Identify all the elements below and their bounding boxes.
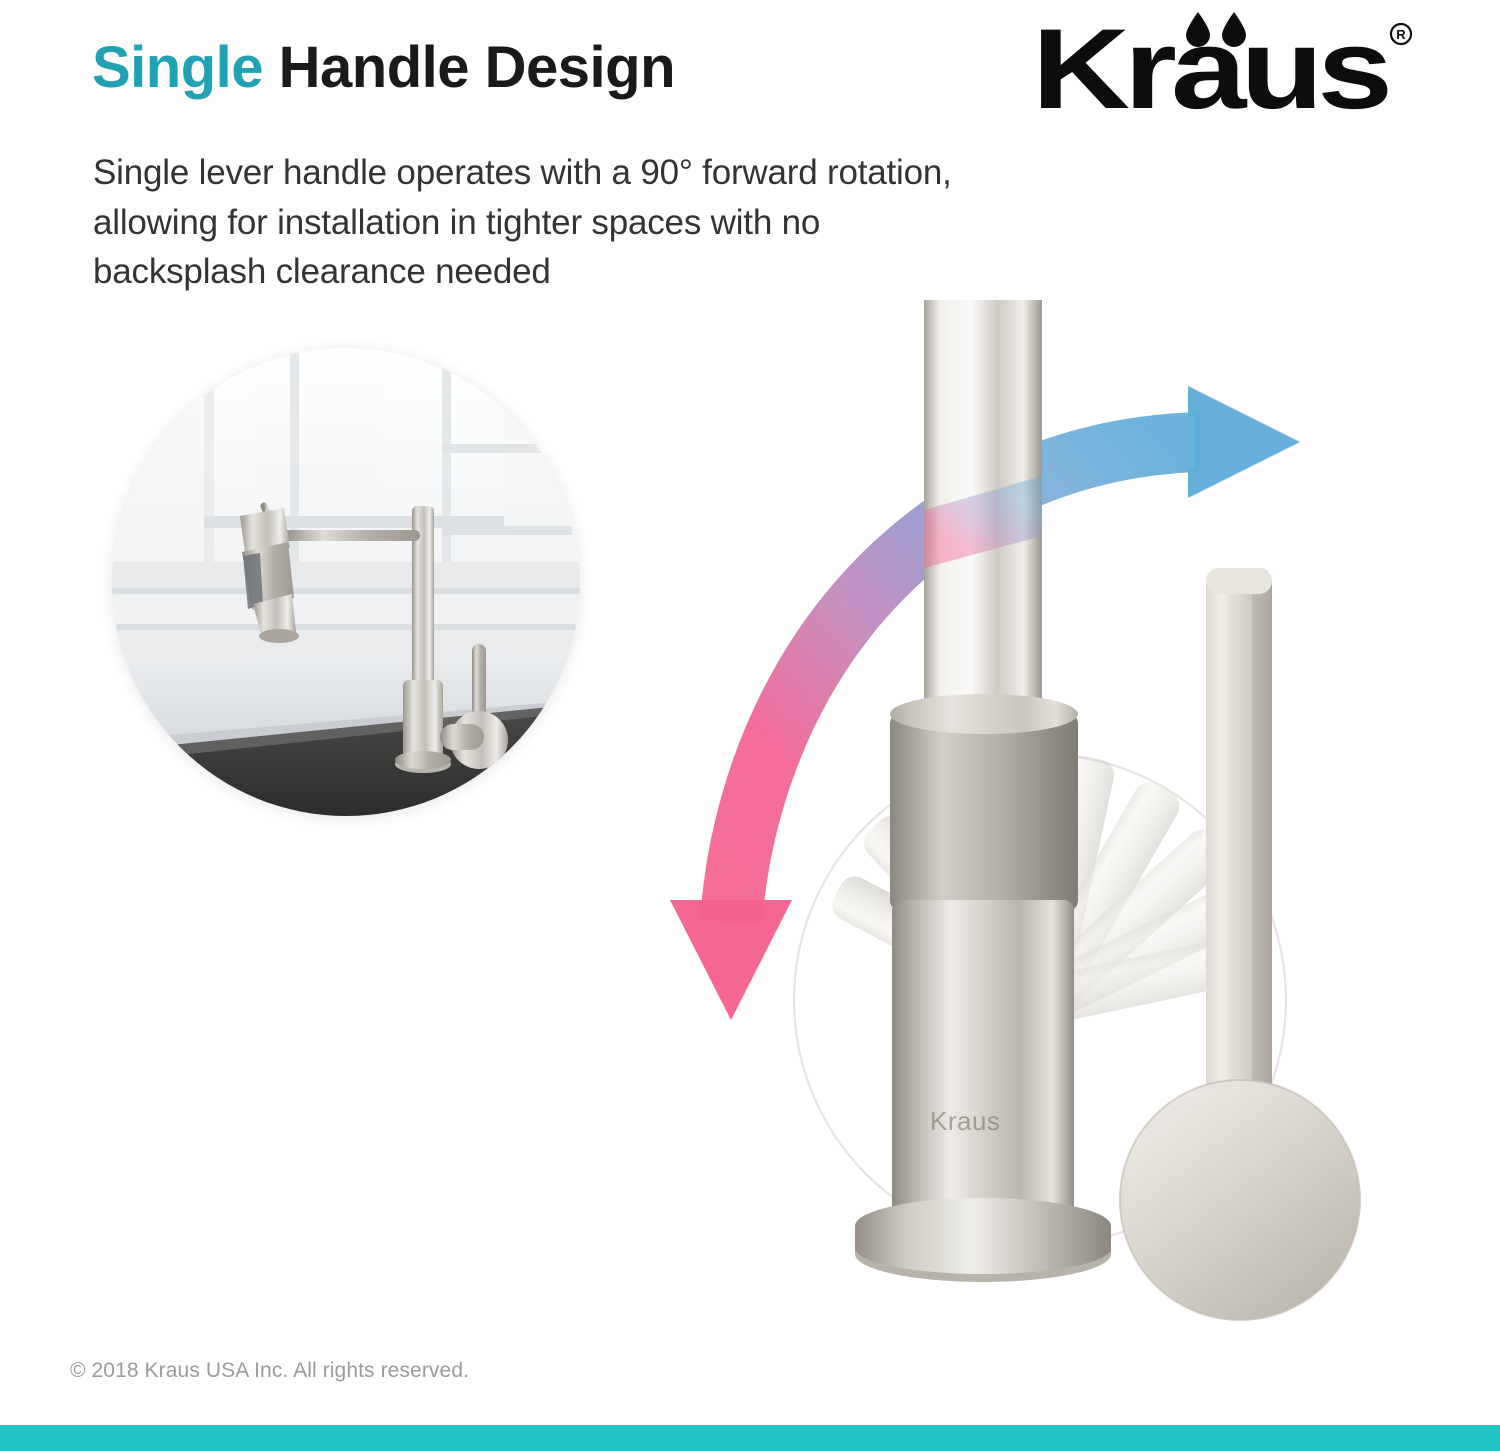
page-description: Single lever handle operates with a 90° …	[93, 148, 973, 297]
forward-rotation-arrow	[1188, 386, 1300, 498]
product-feature-slide: Single Handle Design Single lever handle…	[0, 0, 1500, 1451]
registered-trademark-icon: R	[1391, 24, 1411, 44]
page-title: Single Handle Design	[92, 38, 675, 99]
faucet-rotation-illustration: Kraus	[640, 300, 1440, 1330]
backsplash	[112, 562, 580, 666]
page-title-rest: Handle Design	[263, 35, 675, 100]
copyright-text: © 2018 Kraus USA Inc. All rights reserve…	[70, 1359, 469, 1383]
kraus-logo: Kraus R	[1022, 8, 1422, 118]
engraved-kraus-mark: Kraus	[930, 1106, 1000, 1136]
faucet-lower-body: Kraus	[892, 900, 1074, 1218]
faucet-valve-collar	[890, 694, 1078, 912]
downward-rotation-arrow	[670, 896, 792, 1020]
kitchen-faucet-inset-photo	[112, 348, 580, 816]
faucet-deck-base	[855, 1198, 1111, 1282]
footer-accent-bar	[0, 1425, 1500, 1451]
svg-text:R: R	[1396, 27, 1406, 42]
svg-text:Kraus: Kraus	[1032, 8, 1388, 118]
page-title-accent: Single	[92, 35, 263, 100]
